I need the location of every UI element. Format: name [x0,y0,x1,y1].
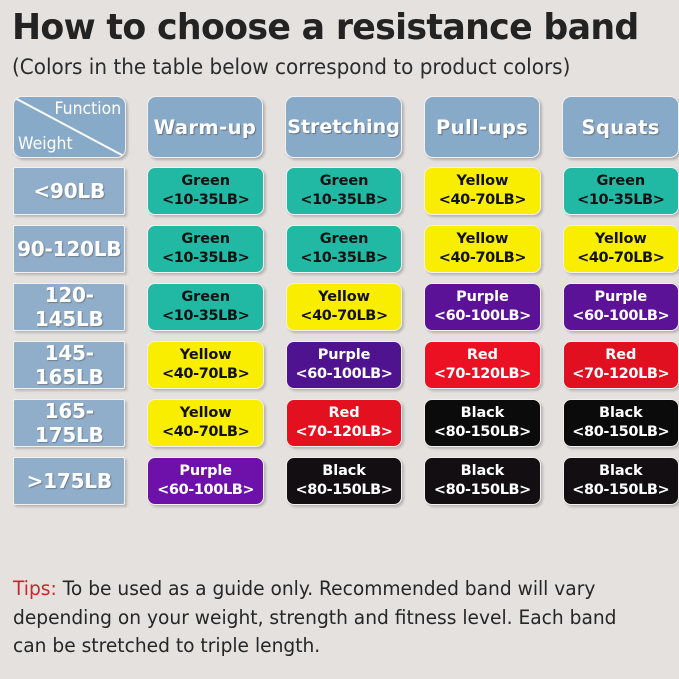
band-resistance-range: <70-120LB> [572,367,669,382]
band-resistance-range: <10-35LB> [162,251,249,266]
row-label-weight[interactable]: <90LB [13,167,125,215]
band-resistance-range: <40-70LB> [162,425,249,440]
band-resistance-range: <60-100LB> [572,309,669,324]
band-cell[interactable]: Purple<60-100LB> [424,283,540,331]
column-header-pull-ups[interactable]: Pull-ups [424,96,541,158]
band-cell[interactable]: Yellow<40-70LB> [563,225,679,273]
band-color-name: Purple [594,290,647,305]
band-cell[interactable]: Yellow<40-70LB> [147,399,263,447]
corner-header-cell: Function Weight [13,96,126,158]
band-color-name: Black [461,464,505,479]
band-resistance-range: <70-120LB> [296,425,393,440]
band-color-name: Yellow [457,174,509,189]
band-color-name: Green [320,232,369,247]
band-resistance-range: <80-150LB> [572,483,669,498]
resistance-band-table: Function Weight Warm-up Stretching Pull-… [0,96,679,515]
title-block: How to choose a resistance band (Colors … [0,0,679,83]
band-cell[interactable]: Red<70-120LB> [424,341,540,389]
row-label-weight[interactable]: 145-165LB [13,341,125,389]
band-resistance-range: <40-70LB> [439,251,526,266]
band-resistance-range: <80-150LB> [434,483,531,498]
band-cell[interactable]: Green<10-35LB> [286,167,402,215]
band-resistance-range: <80-150LB> [296,483,393,498]
band-resistance-range: <10-35LB> [162,309,249,324]
band-cell[interactable]: Purple<60-100LB> [286,341,402,389]
band-cell[interactable]: Yellow<40-70LB> [424,167,540,215]
band-cell[interactable]: Purple<60-100LB> [563,283,679,331]
band-color-name: Yellow [318,290,370,305]
tips-note: Tips: To be used as a guide only. Recomm… [13,575,639,661]
resistance-band-chart-page: How to choose a resistance band (Colors … [0,0,679,679]
band-cell[interactable]: Black<80-150LB> [563,457,679,505]
band-cell[interactable]: Green<10-35LB> [286,225,402,273]
band-resistance-range: <80-150LB> [572,425,669,440]
band-color-name: Purple [456,290,509,305]
column-header-warm-up[interactable]: Warm-up [147,96,264,158]
band-resistance-range: <40-70LB> [300,309,387,324]
table-row: 145-165LBYellow<40-70LB>Purple<60-100LB>… [0,341,679,389]
band-resistance-range: <60-100LB> [296,367,393,382]
band-resistance-range: <40-70LB> [439,193,526,208]
tips-label: Tips: [13,577,57,600]
band-color-name: Yellow [180,406,232,421]
band-color-name: Black [599,406,643,421]
table-row: 120-145LBGreen<10-35LB>Yellow<40-70LB>Pu… [0,283,679,331]
table-row: >175LBPurple<60-100LB>Black<80-150LB>Bla… [0,457,679,505]
band-color-name: Red [328,406,359,421]
band-cell[interactable]: Yellow<40-70LB> [286,283,402,331]
band-resistance-range: <60-100LB> [157,483,254,498]
band-resistance-range: <60-100LB> [434,309,531,324]
row-label-weight[interactable]: 120-145LB [13,283,125,331]
table-header-row: Function Weight Warm-up Stretching Pull-… [0,96,679,158]
row-label-weight[interactable]: >175LB [13,457,125,505]
band-cell[interactable]: Black<80-150LB> [286,457,402,505]
table-row: <90LBGreen<10-35LB>Green<10-35LB>Yellow<… [0,167,679,215]
band-resistance-range: <80-150LB> [434,425,531,440]
band-color-name: Yellow [457,232,509,247]
band-color-name: Green [181,232,230,247]
band-resistance-range: <10-35LB> [300,193,387,208]
band-color-name: Purple [179,464,232,479]
row-label-weight[interactable]: 90-120LB [13,225,125,273]
column-header-squats[interactable]: Squats [562,96,679,158]
band-color-name: Black [599,464,643,479]
band-resistance-range: <40-70LB> [577,251,664,266]
table-row: 90-120LBGreen<10-35LB>Green<10-35LB>Yell… [0,225,679,273]
band-color-name: Green [181,174,230,189]
band-resistance-range: <10-35LB> [300,251,387,266]
table-row: 165-175LBYellow<40-70LB>Red<70-120LB>Bla… [0,399,679,447]
band-resistance-range: <40-70LB> [162,367,249,382]
band-color-name: Black [322,464,366,479]
tips-text: To be used as a guide only. Recommended … [13,577,616,657]
band-resistance-range: <10-35LB> [162,193,249,208]
row-label-weight[interactable]: 165-175LB [13,399,125,447]
band-color-name: Red [467,348,498,363]
table-body: <90LBGreen<10-35LB>Green<10-35LB>Yellow<… [0,167,679,505]
band-resistance-range: <10-35LB> [577,193,664,208]
band-cell[interactable]: Red<70-120LB> [286,399,402,447]
band-cell[interactable]: Green<10-35LB> [147,283,263,331]
band-color-name: Yellow [180,348,232,363]
page-title: How to choose a resistance band [12,6,646,50]
band-cell[interactable]: Purple<60-100LB> [147,457,263,505]
band-color-name: Green [181,290,230,305]
band-color-name: Red [605,348,636,363]
corner-weight-label: Weight [18,132,73,156]
page-subtitle: (Colors in the table below correspond to… [12,53,623,83]
band-cell[interactable]: Yellow<40-70LB> [147,341,263,389]
band-cell[interactable]: Green<10-35LB> [563,167,679,215]
band-color-name: Yellow [595,232,647,247]
band-color-name: Purple [318,348,371,363]
band-color-name: Green [320,174,369,189]
corner-function-label: Function [55,97,122,121]
band-cell[interactable]: Black<80-150LB> [563,399,679,447]
band-cell[interactable]: Black<80-150LB> [424,399,540,447]
band-cell[interactable]: Green<10-35LB> [147,225,263,273]
band-cell[interactable]: Yellow<40-70LB> [424,225,540,273]
band-resistance-range: <70-120LB> [434,367,531,382]
band-cell[interactable]: Red<70-120LB> [563,341,679,389]
band-color-name: Green [597,174,646,189]
band-color-name: Black [461,406,505,421]
band-cell[interactable]: Black<80-150LB> [424,457,540,505]
column-header-stretching[interactable]: Stretching [285,96,402,158]
band-cell[interactable]: Green<10-35LB> [147,167,263,215]
